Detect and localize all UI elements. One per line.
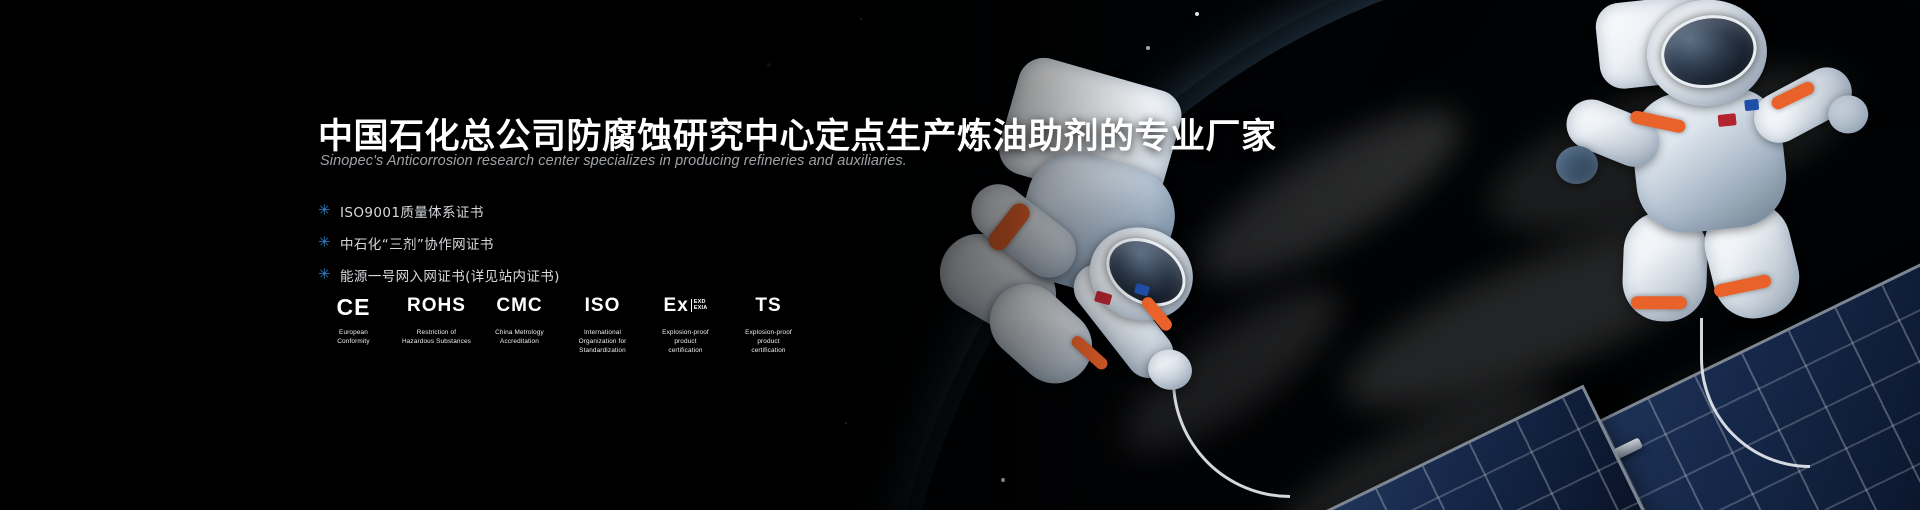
certification-mark: CMC [478,296,561,322]
certification-description: InternationalOrganization forStandardiza… [561,328,644,355]
certification-description: Restriction ofHazardous Substances [395,328,478,346]
certification-mark-text: Ex [664,296,689,315]
certification-description: Explosion-proofproductcertification [727,328,810,355]
certification-badge[interactable]: CMCChina MetrologyAccreditation [478,296,561,346]
certification-description: Explosion-proofproductcertification [644,328,727,355]
certification-description: China MetrologyAccreditation [478,328,561,346]
certification-mark-superscript: EXDEXIA [691,299,708,312]
certification-mark: ROHS [395,296,478,322]
list-item[interactable]: ✳中石化“三剂”协作网证书 [318,230,560,255]
certification-mark: ExEXDEXIA [644,296,727,322]
page-title: 中国石化总公司防腐蚀研究中心定点生产炼油助剂的专业厂家 [318,108,1277,159]
page-subtitle: Sinopec's Anticorrosion research center … [320,153,907,169]
asterisk-icon: ✳ [318,203,340,218]
certification-mark-text: TS [755,296,781,315]
star [1195,12,1199,16]
certification-mark: CE [312,296,395,322]
certification-badge[interactable]: TSExplosion-proofproductcertification [727,296,810,355]
certification-mark-text: CMC [496,296,542,315]
list-item[interactable]: ✳ISO9001质量体系证书 [318,198,560,223]
certification-badge[interactable]: ExEXDEXIAExplosion-proofproductcertifica… [644,296,727,355]
list-item[interactable]: ✳能源一号网入网证书(详见站内证书) [318,262,560,287]
certification-badge[interactable]: ROHSRestriction ofHazardous Substances [395,296,478,346]
hero-banner: 中国石化总公司防腐蚀研究中心定点生产炼油助剂的专业厂家 Sinopec's An… [0,0,1920,510]
certification-badge[interactable]: ISOInternationalOrganization forStandard… [561,296,644,355]
asterisk-icon: ✳ [318,235,340,250]
list-item-label: ISO9001质量体系证书 [340,201,484,221]
list-item-label: 能源一号网入网证书(详见站内证书) [340,265,560,285]
certificate-bullet-list: ✳ISO9001质量体系证书✳中石化“三剂”协作网证书✳能源一号网入网证书(详见… [318,198,560,294]
list-item-label: 中石化“三剂”协作网证书 [340,233,494,253]
certification-mark: TS [727,296,810,322]
suit-patch [1744,99,1759,111]
suit-patch [1718,113,1737,127]
certification-badge[interactable]: CEEuropeanConformity [312,296,395,346]
certification-mark: ISO [561,296,644,322]
certification-mark-text: CE [337,296,371,319]
certification-badge-row: CEEuropeanConformityROHSRestriction ofHa… [312,296,810,355]
astronaut-background [1564,0,1897,337]
suit-accent-band [1631,296,1687,309]
asterisk-icon: ✳ [318,267,340,282]
certification-description: EuropeanConformity [312,328,395,346]
certification-mark-text: ISO [585,296,621,315]
banner-content: 中国石化总公司防腐蚀研究中心定点生产炼油助剂的专业厂家 Sinopec's An… [0,0,1150,510]
certification-mark-text: ROHS [407,296,466,315]
